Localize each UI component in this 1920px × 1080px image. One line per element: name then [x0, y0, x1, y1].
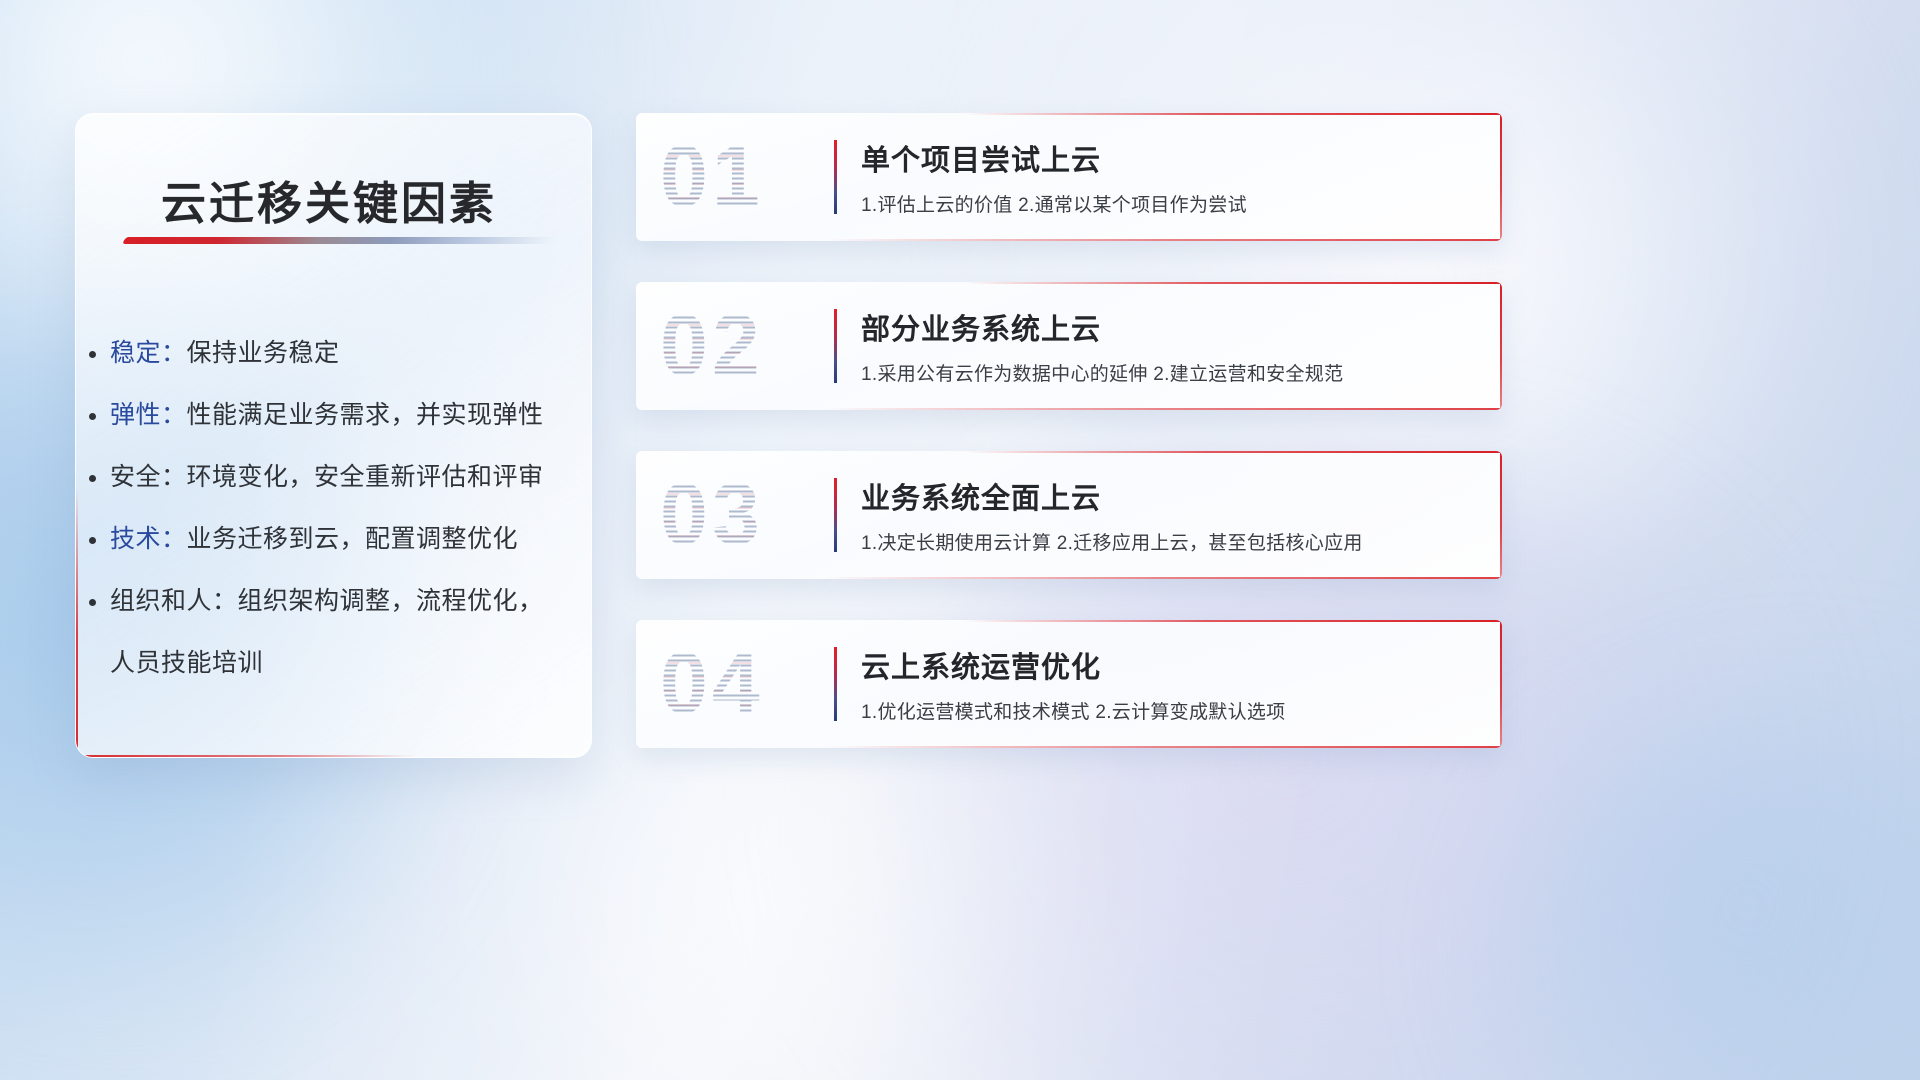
card-description: 1.决定长期使用云计算 2.迁移应用上云，甚至包括核心应用 [861, 528, 1363, 555]
card-title: 部分业务系统上云 [861, 306, 1101, 348]
card-title: 云上系统运营优化 [861, 644, 1101, 686]
card-right-accent [1500, 113, 1502, 241]
card-right-accent [1500, 451, 1502, 579]
card-bottom-accent [827, 577, 1502, 579]
card-divider-bar [834, 140, 837, 214]
list-item-key: 技术： [110, 525, 187, 553]
card-number-watermark-tint: 03 [660, 466, 764, 565]
title-underline-gradient [122, 237, 556, 244]
list-item: 安全：环境变化，安全重新评估和评审 [110, 446, 567, 508]
card-divider-bar [834, 309, 837, 383]
card-bottom-accent [827, 239, 1502, 241]
list-item: 弹性：性能满足业务需求，并实现弹性 [110, 384, 567, 446]
slide-stage: 云迁移关键因素 稳定：保持业务稳定 弹性：性能满足业务需求，并实现弹性 安全：环… [0, 0, 1920, 1080]
card-divider-bar [834, 478, 837, 552]
page-title: 云迁移关键因素 [161, 167, 497, 232]
card-description: 1.采用公有云作为数据中心的延伸 2.建立运营和安全规范 [861, 359, 1343, 386]
list-item-text: 业务迁移到云，配置调整优化 [187, 525, 519, 553]
card-description: 1.优化运营模式和技术模式 2.云计算变成默认选项 [861, 697, 1285, 724]
card-top-accent [965, 620, 1502, 622]
list-item-text: 环境变化，安全重新评估和评审 [187, 463, 544, 491]
card-bottom-accent [827, 746, 1502, 748]
list-item-key: 安全： [110, 463, 187, 491]
card-top-accent [965, 451, 1502, 453]
card-title: 业务系统全面上云 [861, 475, 1101, 517]
card-number-watermark-tint: 01 [660, 128, 764, 227]
card-number-watermark-tint: 02 [660, 297, 764, 396]
panel-bottom-accent [76, 755, 416, 757]
list-item-key: 组织和人： [110, 587, 238, 615]
list-item-text: 性能满足业务需求，并实现弹性 [187, 401, 544, 429]
card-number-watermark-tint: 04 [660, 635, 764, 734]
card-bottom-accent [827, 408, 1502, 410]
list-item: 组织和人：组织架构调整，流程优化，人员技能培训 [110, 570, 567, 694]
stage-card[interactable]: 02 02 部分业务系统上云 1.采用公有云作为数据中心的延伸 2.建立运营和安… [636, 282, 1502, 410]
card-divider-bar [834, 647, 837, 721]
card-description: 1.评估上云的价值 2.通常以某个项目作为尝试 [861, 190, 1247, 217]
card-title: 单个项目尝试上云 [861, 137, 1101, 179]
stage-card[interactable]: 04 04 云上系统运营优化 1.优化运营模式和技术模式 2.云计算变成默认选项 [636, 620, 1502, 748]
card-top-accent [965, 282, 1502, 284]
stage-card[interactable]: 03 03 业务系统全面上云 1.决定长期使用云计算 2.迁移应用上云，甚至包括… [636, 451, 1502, 579]
list-item-key: 稳定： [110, 339, 187, 367]
panel-left-accent [76, 487, 78, 757]
key-factors-panel: 云迁移关键因素 稳定：保持业务稳定 弹性：性能满足业务需求，并实现弹性 安全：环… [75, 113, 592, 758]
stage-card[interactable]: 01 01 单个项目尝试上云 1.评估上云的价值 2.通常以某个项目作为尝试 [636, 113, 1502, 241]
list-item-key: 弹性： [110, 401, 187, 429]
list-item: 技术：业务迁移到云，配置调整优化 [110, 508, 567, 570]
list-item-text: 保持业务稳定 [187, 339, 340, 367]
stage-cards-list: 01 01 单个项目尝试上云 1.评估上云的价值 2.通常以某个项目作为尝试 0… [636, 113, 1502, 789]
card-right-accent [1500, 282, 1502, 410]
key-factors-list: 稳定：保持业务稳定 弹性：性能满足业务需求，并实现弹性 安全：环境变化，安全重新… [110, 322, 567, 694]
card-top-accent [965, 113, 1502, 115]
list-item: 稳定：保持业务稳定 [110, 322, 567, 384]
card-right-accent [1500, 620, 1502, 748]
